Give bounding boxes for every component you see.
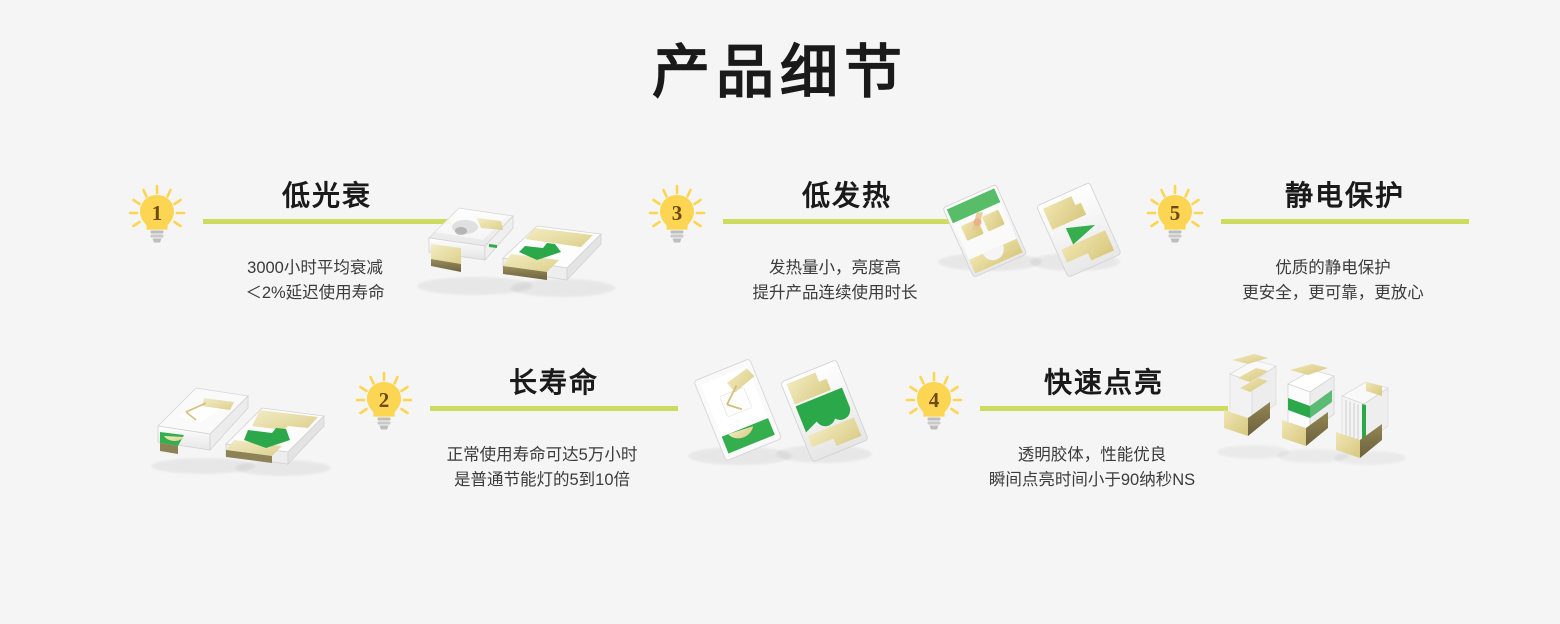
feature-underline-1 <box>203 219 451 224</box>
feature-block-2: 2 长寿命 正常使用寿命可达5万小时 是普通节能灯的5到10倍 <box>355 365 685 500</box>
feature-heading-2: 长寿命 <box>423 365 685 401</box>
feature-desc-line1-2: 正常使用寿命可达5万小时 <box>399 443 685 468</box>
lightbulb-icon-4: 4 <box>905 371 963 435</box>
bulb-number-1: 1 <box>152 201 163 225</box>
feature-desc-line1-4: 透明胶体，性能优良 <box>949 443 1235 468</box>
feature-underline-4 <box>980 406 1228 411</box>
feature-headline-4: 快速点亮 <box>973 365 1235 427</box>
product-image-smd-led-pair-center-green <box>678 350 878 476</box>
bulb-number-3: 3 <box>672 201 683 225</box>
feature-underline-2 <box>430 406 678 411</box>
feature-description-5: 优质的静电保护 更安全，更可靠，更放心 <box>1190 256 1476 306</box>
product-image-chip-led-trio-vertical <box>1208 352 1408 478</box>
feature-underline-5 <box>1221 219 1469 224</box>
feature-desc-line2-2: 是普通节能灯的5到10倍 <box>399 468 685 493</box>
feature-description-4: 透明胶体，性能优良 瞬间点亮时间小于90纳秒NS <box>949 443 1235 493</box>
bulb-number-2: 2 <box>379 388 390 412</box>
feature-block-4: 4 快速点亮 透明胶体，性能优良 瞬间点亮时间小于90纳秒NS <box>905 365 1235 500</box>
lightbulb-icon-5: 5 <box>1146 184 1204 248</box>
feature-block-5: 5 静电保护 优质的静电保护 更安全，更可靠，更放心 <box>1146 178 1476 313</box>
feature-heading-5: 静电保护 <box>1214 178 1476 214</box>
lightbulb-icon-3: 3 <box>648 184 706 248</box>
feature-description-2: 正常使用寿命可达5万小时 是普通节能灯的5到10倍 <box>399 443 685 493</box>
bulb-number-4: 4 <box>929 388 940 412</box>
feature-desc-line2-3: 提升产品连续使用时长 <box>692 281 978 306</box>
product-image-smd-led-pair-bottom-left <box>148 368 333 486</box>
bulb-number-5: 5 <box>1170 201 1181 225</box>
feature-headline-5: 静电保护 <box>1214 178 1476 240</box>
feature-desc-line1-5: 优质的静电保护 <box>1190 256 1476 281</box>
product-image-smd-led-pair-angled-green-triangle <box>935 162 1125 282</box>
product-image-smd-led-pair-side-view <box>415 182 620 302</box>
product-detail-page: 产品细节 1 <box>0 0 1560 624</box>
feature-desc-line2-5: 更安全，更可靠，更放心 <box>1190 281 1476 306</box>
page-title: 产品细节 <box>0 40 1560 107</box>
feature-block-3: 3 低发热 发热量小，亮度高 提升产品连续使用时长 <box>648 178 978 313</box>
lightbulb-icon-1: 1 <box>128 184 186 248</box>
feature-heading-4: 快速点亮 <box>973 365 1235 401</box>
feature-underline-3 <box>723 219 971 224</box>
feature-desc-line2-4: 瞬间点亮时间小于90纳秒NS <box>949 468 1235 493</box>
lightbulb-icon-2: 2 <box>355 371 413 435</box>
feature-headline-2: 长寿命 <box>423 365 685 427</box>
feature-block-1: 1 低光衰 3000小时平均衰减 ＜2%延迟使用寿命 <box>128 178 458 313</box>
